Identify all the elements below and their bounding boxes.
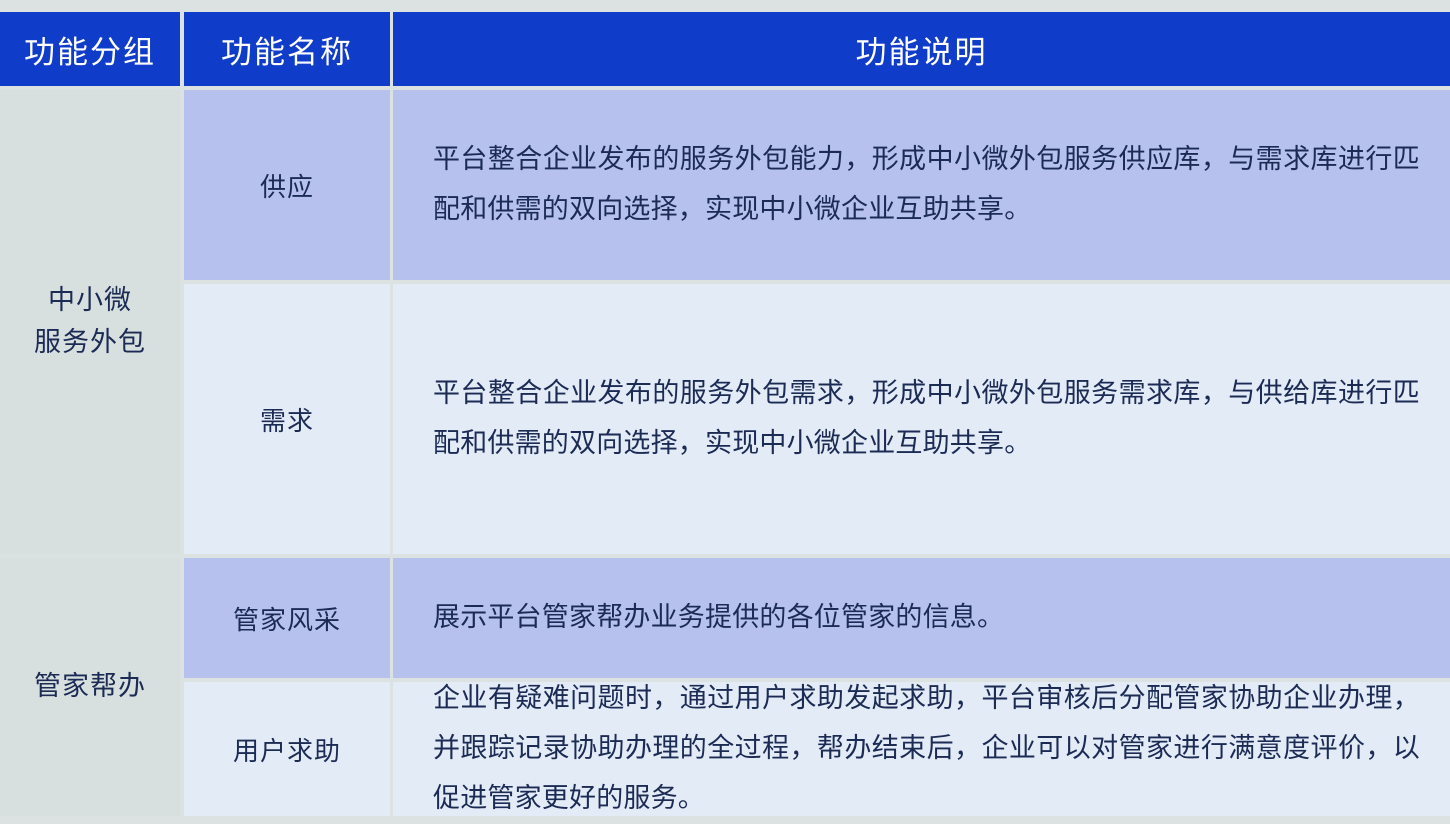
column-header-group: 功能分组 — [0, 12, 180, 86]
group-cell-butler-service: 管家帮办 — [0, 558, 180, 816]
description-text: 企业有疑难问题时，通过用户求助发起求助，平台审核后分配管家协助企业办理，并跟踪记… — [433, 674, 1420, 824]
function-name-user-help-request: 用户求助 — [184, 682, 390, 816]
description-text: 平台整合企业发布的服务外包能力，形成中小微外包服务供应库，与需求库进行匹配和供需… — [433, 135, 1420, 235]
table-header-row: 功能分组 功能名称 功能说明 — [0, 12, 1450, 86]
function-description-user-help-request: 企业有疑难问题时，通过用户求助发起求助，平台审核后分配管家协助企业办理，并跟踪记… — [393, 682, 1450, 816]
group-label-line2: 服务外包 — [34, 327, 146, 357]
group-label-line1: 中小微 — [48, 285, 132, 315]
function-description-demand: 平台整合企业发布的服务外包需求，形成中小微外包服务需求库，与供给库进行匹配和供需… — [393, 284, 1450, 554]
column-header-name: 功能名称 — [184, 12, 390, 86]
function-name-supply: 供应 — [184, 90, 390, 280]
column-header-description: 功能说明 — [393, 12, 1450, 86]
function-description-table: 功能分组 功能名称 功能说明 中小微 服务外包 供应 平台整合企业发布的服务外包… — [0, 0, 1450, 816]
description-text: 展示平台管家帮办业务提供的各位管家的信息。 — [433, 593, 1420, 643]
function-name-butler-profile: 管家风采 — [184, 558, 390, 678]
function-description-butler-profile: 展示平台管家帮办业务提供的各位管家的信息。 — [393, 558, 1450, 678]
group-label: 管家帮办 — [34, 666, 146, 708]
group-label: 中小微 服务外包 — [34, 280, 146, 364]
description-text: 平台整合企业发布的服务外包需求，形成中小微外包服务需求库，与供给库进行匹配和供需… — [433, 369, 1420, 469]
table-body: 中小微 服务外包 供应 平台整合企业发布的服务外包能力，形成中小微外包服务供应库… — [0, 90, 1450, 816]
group-cell-smb-outsourcing: 中小微 服务外包 — [0, 90, 180, 554]
function-name-demand: 需求 — [184, 284, 390, 554]
function-description-supply: 平台整合企业发布的服务外包能力，形成中小微外包服务供应库，与需求库进行匹配和供需… — [393, 90, 1450, 280]
